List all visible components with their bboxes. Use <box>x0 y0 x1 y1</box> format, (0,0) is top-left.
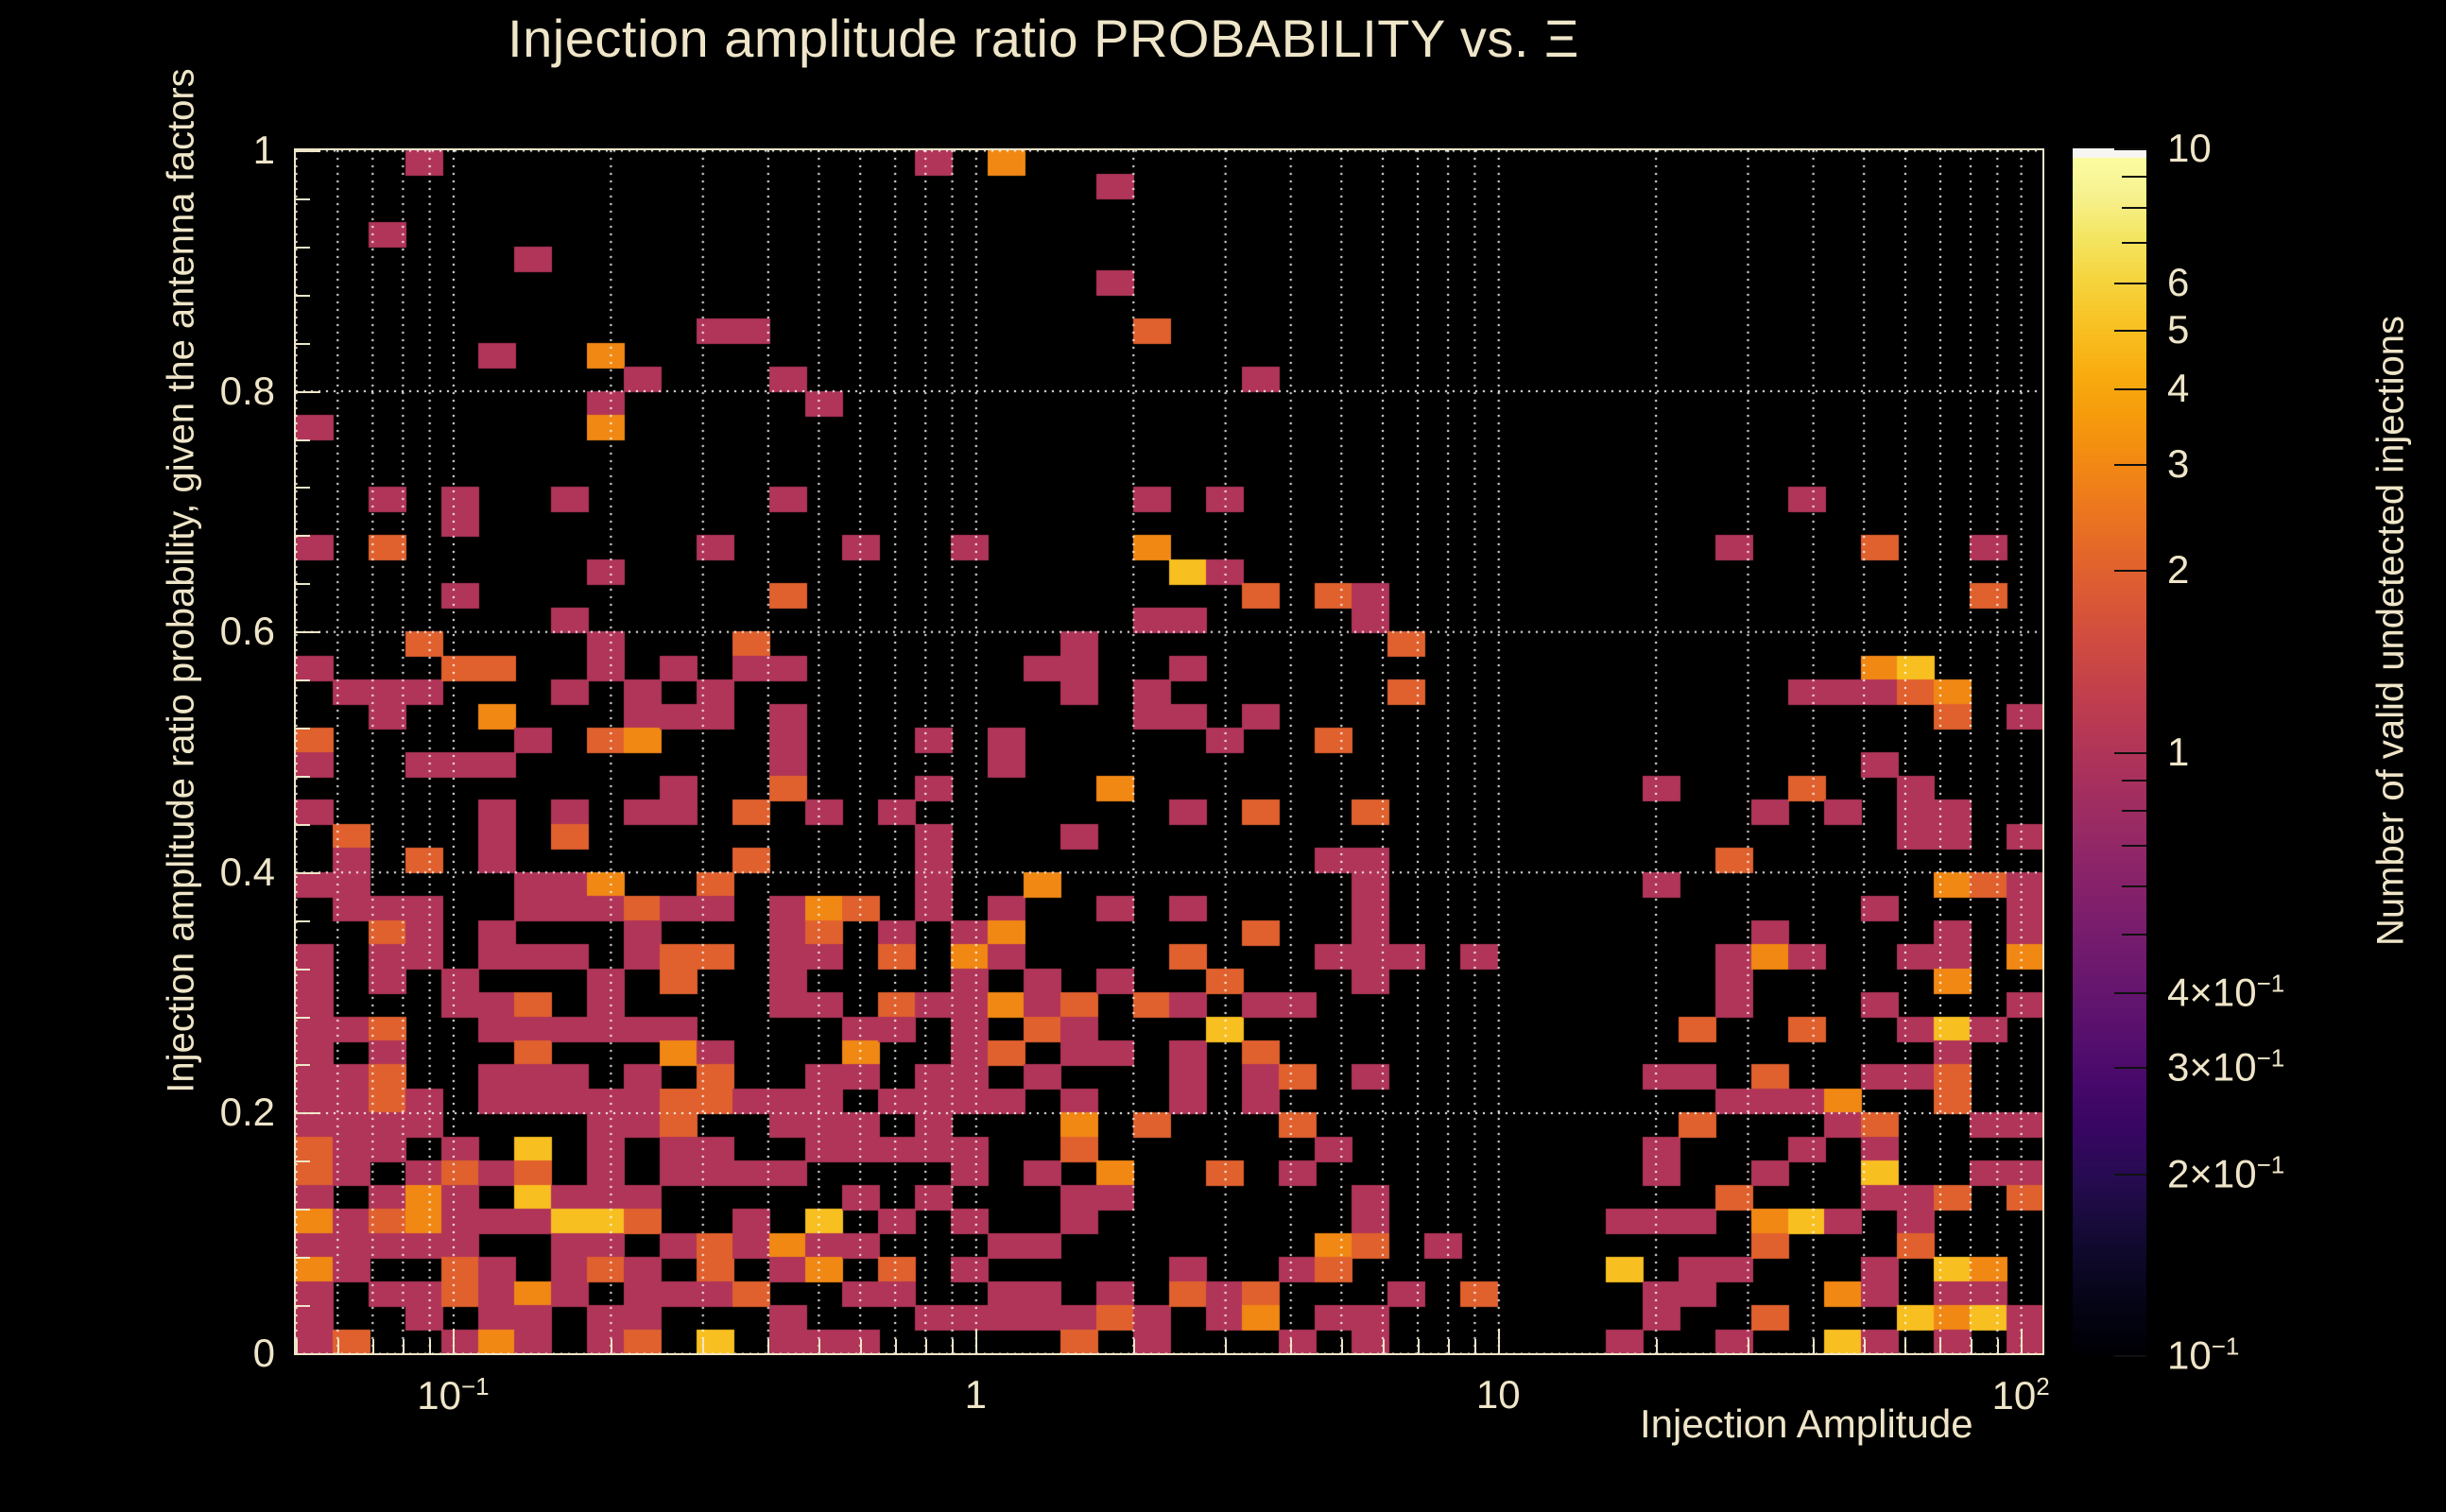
x-tick <box>952 1339 954 1353</box>
y-minor-tick <box>296 583 310 585</box>
y-minor-tick <box>296 535 310 537</box>
y-tick <box>296 872 320 874</box>
colorbar-tick-label: 4×10−1 <box>2167 969 2284 1015</box>
colorbar-minor-tick <box>2122 242 2146 244</box>
colorbar-tick-label: 10 <box>2167 126 2212 171</box>
colorbar-tick <box>2114 1355 2146 1357</box>
y-tick-label: 0 <box>77 1331 275 1376</box>
y-minor-tick <box>296 343 310 345</box>
colorbar-minor-tick <box>2122 885 2146 887</box>
y-minor-tick <box>296 1160 310 1162</box>
colorbar-tick-label: 4 <box>2167 366 2189 411</box>
colorbar-tick <box>2114 1174 2146 1176</box>
y-minor-tick <box>296 679 310 681</box>
colorbar-minor-tick <box>2122 934 2146 936</box>
x-tick-label: 10−1 <box>417 1372 489 1418</box>
colorbar-tick <box>2114 148 2146 150</box>
plot-area <box>294 148 2044 1355</box>
colorbar-tick-label: 3×10−1 <box>2167 1044 2284 1091</box>
x-tick <box>767 1339 769 1353</box>
y-minor-tick <box>296 776 310 778</box>
x-tick-label: 10 <box>1476 1372 1521 1417</box>
x-tick <box>925 1339 927 1353</box>
y-minor-tick <box>296 969 310 971</box>
colorbar-tick <box>2114 992 2146 994</box>
colorbar-tick <box>2114 283 2146 284</box>
y-axis-title: Injection amplitude ratio probability, g… <box>161 61 203 1101</box>
y-minor-tick <box>296 728 310 730</box>
y-minor-tick <box>296 1064 310 1066</box>
y-minor-tick <box>296 295 310 297</box>
colorbar-tick <box>2114 1067 2146 1069</box>
x-tick <box>1997 1339 1999 1353</box>
y-tick <box>296 1112 320 1114</box>
colorbar-minor-tick <box>2122 176 2146 178</box>
x-tick <box>372 1339 374 1353</box>
y-tick <box>296 1353 320 1355</box>
y-minor-tick <box>296 1305 310 1307</box>
y-minor-tick <box>296 198 310 200</box>
x-tick <box>1133 1339 1135 1353</box>
x-tick <box>337 1339 339 1353</box>
x-tick <box>429 1339 431 1353</box>
colorbar-tick-label: 5 <box>2167 307 2189 352</box>
chart-root: Injection amplitude ratio PROBABILITY vs… <box>0 0 2446 1512</box>
x-tick-label: 1 <box>965 1372 987 1417</box>
colorbar-minor-tick <box>2122 845 2146 847</box>
y-tick <box>296 391 320 393</box>
x-tick <box>453 1329 455 1353</box>
colorbar-tick <box>2114 752 2146 754</box>
y-minor-tick <box>296 1017 310 1019</box>
colorbar-tick <box>2114 464 2146 466</box>
x-tick <box>975 1329 977 1353</box>
colorbar-tick <box>2114 330 2146 332</box>
x-tick <box>296 1339 298 1353</box>
y-minor-tick <box>296 824 310 826</box>
x-tick <box>895 1339 897 1353</box>
y-minor-tick <box>296 439 310 441</box>
x-tick <box>1864 1339 1866 1353</box>
colorbar-tick <box>2114 388 2146 390</box>
y-tick <box>296 150 320 152</box>
x-tick <box>1748 1339 1749 1353</box>
x-tick <box>818 1339 820 1353</box>
colorbar-tick-label: 2×10−1 <box>2167 1150 2284 1196</box>
x-tick <box>1813 1339 1815 1353</box>
x-tick <box>860 1339 862 1353</box>
colorbar-tick-label: 2 <box>2167 547 2189 593</box>
x-tick <box>1904 1339 1906 1353</box>
x-tick <box>2021 1329 2023 1353</box>
x-tick <box>1341 1339 1343 1353</box>
colorbar-tick-label: 6 <box>2167 260 2189 305</box>
y-minor-tick <box>296 920 310 922</box>
y-minor-tick <box>296 247 310 249</box>
y-minor-tick <box>296 487 310 489</box>
colorbar-tick-label: 1 <box>2167 730 2189 775</box>
heatmap-canvas <box>296 150 2042 1353</box>
x-tick <box>1939 1339 1941 1353</box>
colorbar-tick-label: 10−1 <box>2167 1332 2239 1379</box>
x-axis-title: Injection Amplitude <box>1640 1401 1973 1447</box>
x-tick <box>1290 1339 1292 1353</box>
x-tick <box>1474 1339 1476 1353</box>
y-tick <box>296 631 320 633</box>
x-tick <box>611 1339 612 1353</box>
y-minor-tick <box>296 1209 310 1211</box>
chart-title: Injection amplitude ratio PROBABILITY vs… <box>0 8 2087 69</box>
colorbar-tick-label: 3 <box>2167 441 2189 487</box>
colorbar-minor-tick <box>2122 810 2146 812</box>
x-tick <box>1383 1339 1385 1353</box>
x-tick <box>1225 1339 1227 1353</box>
colorbar-tick <box>2114 570 2146 572</box>
x-tick <box>403 1339 405 1353</box>
y-minor-tick <box>296 1257 310 1259</box>
x-tick <box>1498 1329 1500 1353</box>
colorbar-minor-tick <box>2122 207 2146 209</box>
x-tick <box>1448 1339 1450 1353</box>
x-tick <box>702 1339 704 1353</box>
x-tick <box>1971 1339 1972 1353</box>
x-tick <box>1656 1339 1658 1353</box>
x-tick-label: 102 <box>1992 1372 2050 1418</box>
x-tick <box>1418 1339 1420 1353</box>
colorbar-minor-tick <box>2122 780 2146 782</box>
colorbar-title: Number of valid undetected injections <box>2370 64 2413 1198</box>
